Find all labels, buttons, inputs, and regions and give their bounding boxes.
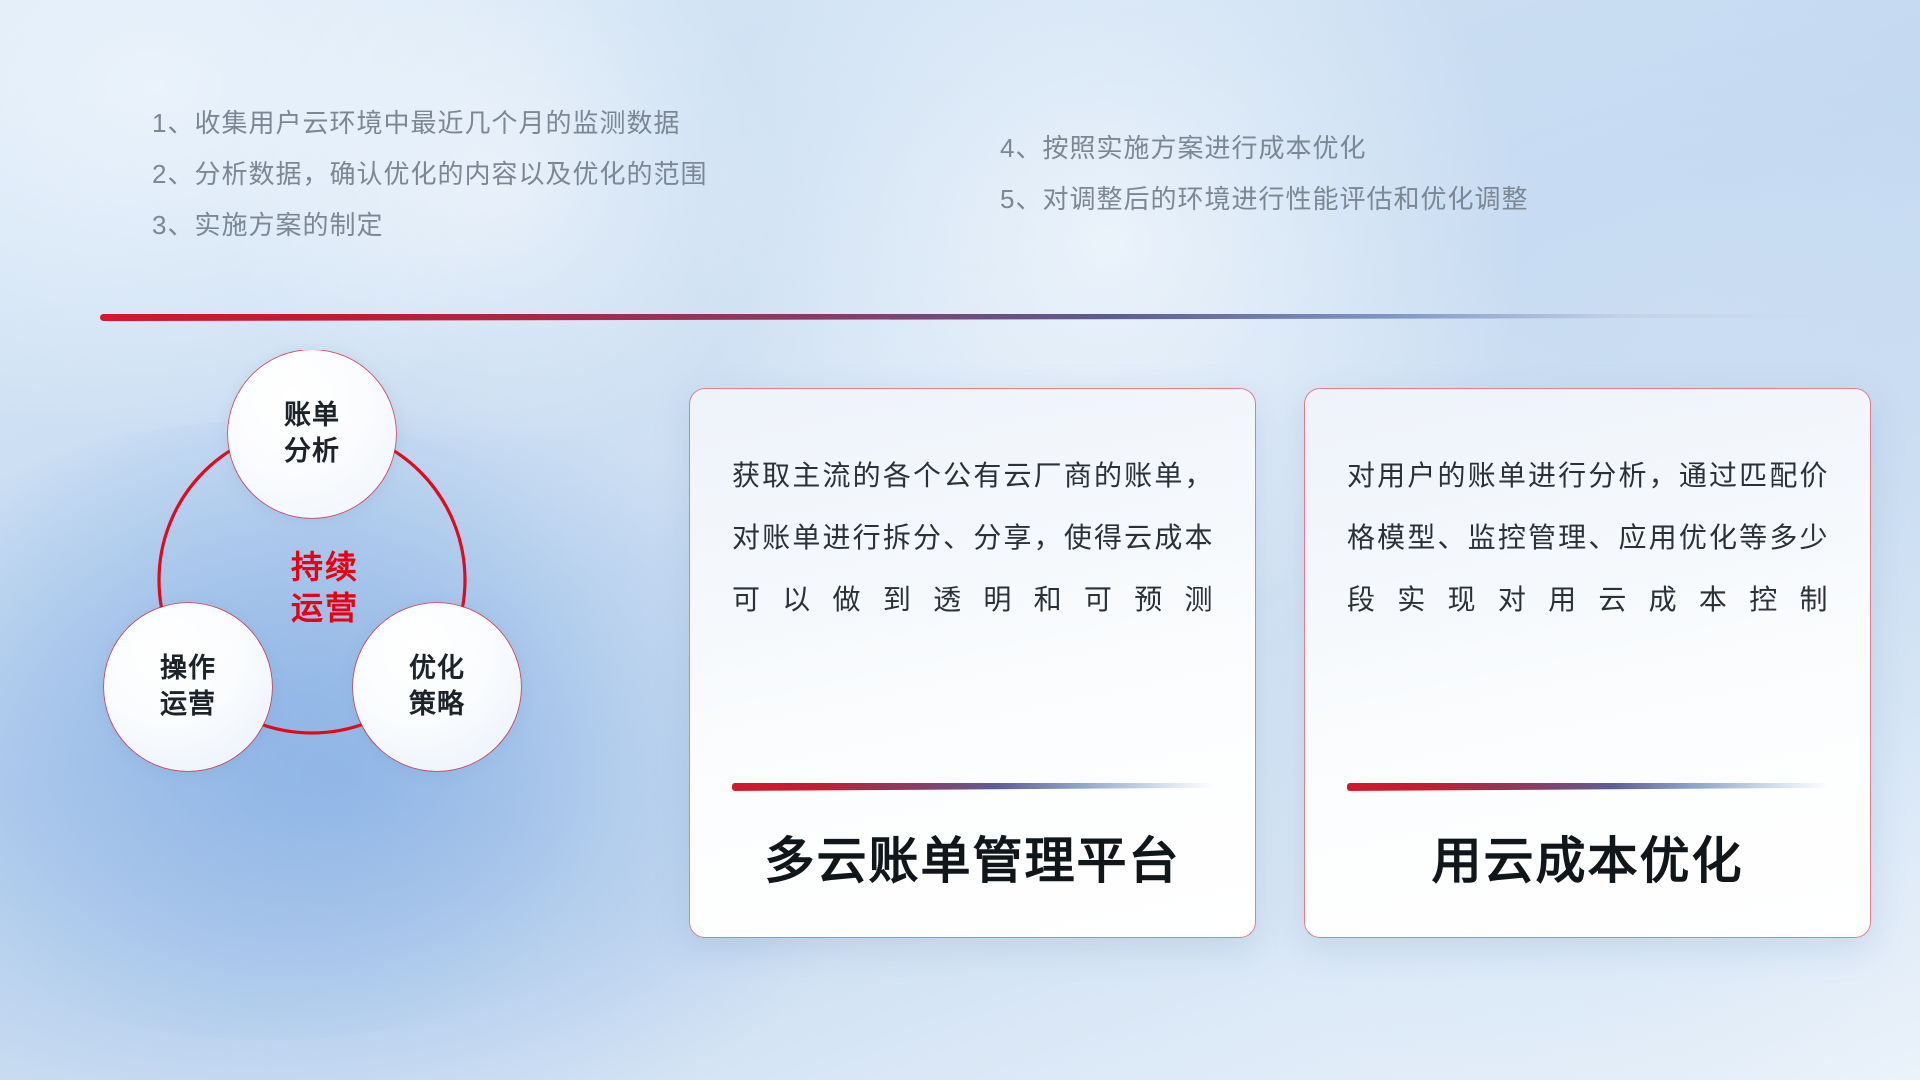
venn-node-operations[interactable]: 操作 运营 xyxy=(104,603,272,771)
steps-list-right: 4、按照实施方案进行成本优化 5、对调整后的环境进行性能评估和优化调整 xyxy=(1000,123,1528,225)
steps-list-left: 1、收集用户云环境中最近几个月的监测数据 2、分析数据，确认优化的内容以及优化的… xyxy=(152,98,707,251)
step-item: 3、实施方案的制定 xyxy=(152,200,707,251)
venn-diagram: 账单 分析 操作 运营 优化 策略 持续 运营 xyxy=(80,350,580,870)
feature-card-cloud-cost-optimization[interactable]: 对用户的账单进行分析，通过匹配价格模型、监控管理、应用优化等多少段实现对用云成本… xyxy=(1304,388,1871,938)
step-item: 1、收集用户云环境中最近几个月的监测数据 xyxy=(152,98,707,149)
card-body-text: 对用户的账单进行分析，通过匹配价格模型、监控管理、应用优化等多少段实现对用云成本… xyxy=(1347,445,1828,631)
card-body-text: 获取主流的各个公有云厂商的账单，对账单进行拆分、分享，使得云成本可以做到透明和可… xyxy=(732,445,1213,631)
card-title: 用云成本优化 xyxy=(1347,821,1828,893)
card-accent-rule xyxy=(1347,783,1828,791)
feature-card-multi-cloud-billing-platform[interactable]: 获取主流的各个公有云厂商的账单，对账单进行拆分、分享，使得云成本可以做到透明和可… xyxy=(689,388,1256,938)
venn-center-line-2: 运营 xyxy=(291,588,359,629)
venn-node-billing-analysis[interactable]: 账单 分析 xyxy=(228,350,396,518)
step-item: 2、分析数据，确认优化的内容以及优化的范围 xyxy=(152,149,707,200)
venn-node-label: 操作 运营 xyxy=(160,651,216,722)
venn-center-label: 持续 运营 xyxy=(265,528,385,648)
card-accent-rule xyxy=(732,783,1213,791)
slide-canvas: 1、收集用户云环境中最近几个月的监测数据 2、分析数据，确认优化的内容以及优化的… xyxy=(0,0,1920,1080)
step-item: 5、对调整后的环境进行性能评估和优化调整 xyxy=(1000,174,1528,225)
venn-node-label: 账单 分析 xyxy=(284,398,340,469)
step-item: 4、按照实施方案进行成本优化 xyxy=(1000,123,1528,174)
venn-node-label: 优化 策略 xyxy=(409,651,465,722)
venn-center-line-1: 持续 xyxy=(291,547,359,588)
card-title: 多云账单管理平台 xyxy=(732,821,1213,893)
section-divider xyxy=(100,314,1830,321)
